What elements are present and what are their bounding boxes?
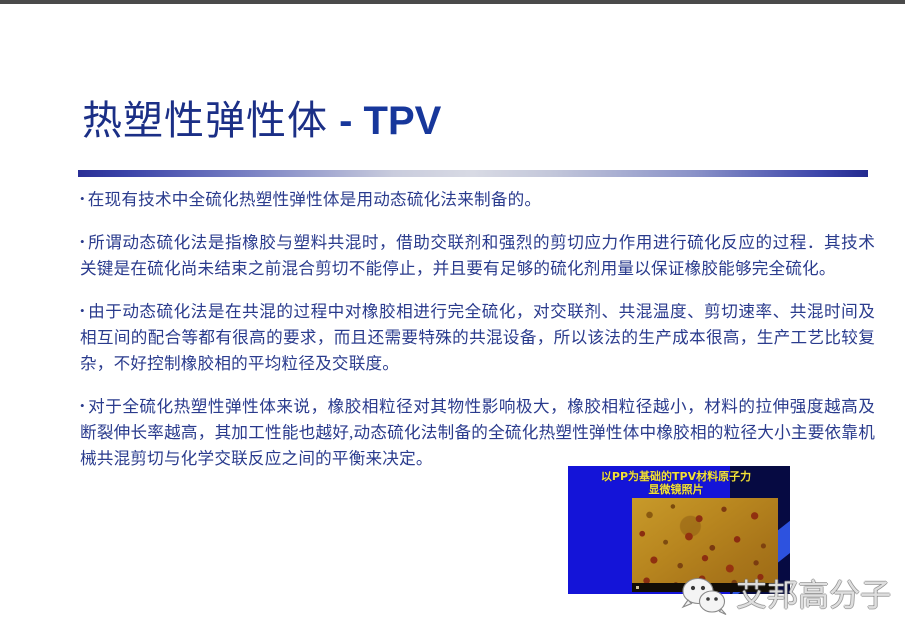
page-title-cn: 热塑性弹性体	[82, 98, 328, 143]
afm-picture-panel: 以PP为基础的TPV材料原子力 显微镜照片	[568, 466, 790, 594]
afm-caption-line-2: 显微镜照片	[576, 483, 776, 496]
afm-caption: 以PP为基础的TPV材料原子力 显微镜照片	[576, 470, 776, 496]
bullet-paragraph-3-text: 由于动态硫化法是在共混的过程中对橡胶相进行完全硫化，对交联剂、共混温度、剪切速率…	[80, 302, 875, 373]
bullet-glyph: •	[80, 303, 85, 318]
afm-micrograph-image	[632, 498, 778, 592]
bullet-glyph: •	[80, 234, 85, 249]
bullet-paragraph-1: •在现有技术中全硫化热塑性弹性体是用动态硫化法来制备的。	[80, 186, 875, 213]
bullet-glyph: •	[80, 191, 85, 206]
micrograph-scale-bar	[632, 583, 778, 592]
slide-canvas: 热塑性弹性体 - TPV •在现有技术中全硫化热塑性弹性体是用动态硫化法来制备的…	[0, 0, 905, 637]
body-text-block: •在现有技术中全硫化热塑性弹性体是用动态硫化法来制备的。 •所谓动态硫化法是指橡…	[80, 186, 875, 488]
bullet-paragraph-4-text: 对于全硫化热塑性弹性体来说，橡胶相粒径对其物性影响极大，橡胶相粒径越小，材料的拉…	[80, 397, 875, 468]
bullet-paragraph-4: •对于全硫化热塑性弹性体来说，橡胶相粒径对其物性影响极大，橡胶相粒径越小，材料的…	[80, 393, 875, 472]
page-title-latin: TPV	[364, 99, 442, 143]
top-border-rule	[0, 0, 905, 4]
bullet-paragraph-2-text: 所谓动态硫化法是指橡胶与塑料共混时，借助交联剂和强烈的剪切应力作用进行硫化反应的…	[80, 233, 875, 278]
bullet-paragraph-2: •所谓动态硫化法是指橡胶与塑料共混时，借助交联剂和强烈的剪切应力作用进行硫化反应…	[80, 229, 875, 282]
afm-caption-line-1: 以PP为基础的TPV材料原子力	[576, 470, 776, 483]
title-divider-bar	[78, 170, 868, 177]
bullet-glyph: •	[80, 398, 85, 413]
page-title: 热塑性弹性体 - TPV	[82, 96, 862, 146]
bullet-paragraph-1-text: 在现有技术中全硫化热塑性弹性体是用动态硫化法来制备的。	[88, 190, 541, 209]
page-title-separator: -	[328, 99, 364, 143]
title-block: 热塑性弹性体 - TPV	[82, 96, 862, 146]
bullet-paragraph-3: •由于动态硫化法是在共混的过程中对橡胶相进行完全硫化，对交联剂、共混温度、剪切速…	[80, 298, 875, 377]
